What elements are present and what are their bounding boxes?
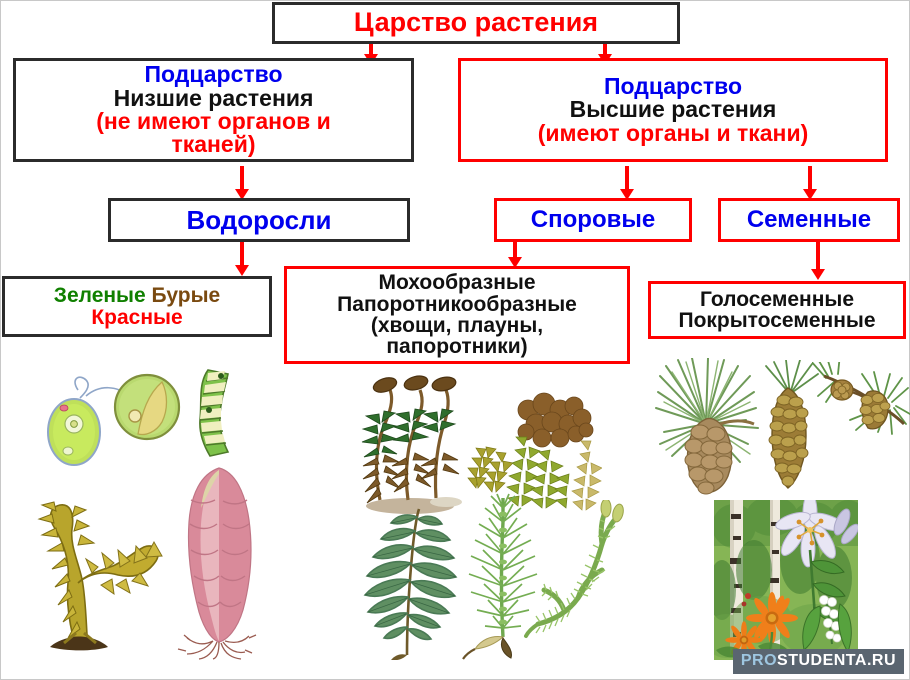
kingdom-plants-label: Царство растения	[354, 9, 598, 37]
algae-box[interactable]: Водоросли	[108, 198, 410, 242]
clubmoss-icon	[520, 500, 625, 640]
arrow-higher-to-spore	[620, 166, 634, 202]
arrow-higher-to-seed	[803, 166, 817, 202]
algae-green-label: Зеленые	[54, 284, 146, 307]
kingdom-plants-box[interactable]: Царство растения	[272, 2, 680, 44]
algae-label: Водоросли	[186, 207, 331, 234]
watermark-pro: PRO	[741, 652, 777, 669]
subkingdom-higher-line1: Подцарство	[604, 75, 742, 98]
spore-groups-line1: Мохообразные	[378, 272, 535, 293]
moss-with-capsules-icon	[350, 372, 470, 517]
arrow-seed-to-groups	[811, 240, 825, 282]
seed-groups-line2: Покрытосеменные	[678, 310, 875, 331]
pine-cone-icon	[760, 360, 820, 495]
brown-alga-fucus-icon	[20, 487, 170, 655]
spore-plants-label: Споровые	[531, 208, 655, 232]
spore-groups-line3: (хвощи, плауны,	[371, 315, 543, 336]
subkingdom-lower-line4: тканей)	[171, 133, 255, 156]
spore-groups-box[interactable]: Мохообразные Папоротникообразные (хвощи,…	[284, 266, 630, 364]
watermark-rest: STUDENTA.RU	[777, 652, 896, 669]
round-green-alga-icon	[112, 372, 182, 442]
arrow-algae-to-groups	[235, 240, 249, 278]
seed-plants-box[interactable]: Семенные	[718, 198, 900, 242]
spirogyra-icon	[188, 368, 234, 458]
diagram-canvas: Царство растения Подцарство Низшие расте…	[0, 0, 910, 680]
red-alga-icon	[157, 460, 277, 660]
subkingdom-lower-line3: (не имеют органов и	[96, 110, 330, 133]
subkingdom-lower-line1: Подцарство	[144, 63, 282, 86]
spore-groups-line2: Папоротникообразные	[337, 294, 577, 315]
spruce-cone-icon	[650, 358, 765, 503]
subkingdom-lower-box[interactable]: Подцарство Низшие растения (не имеют орг…	[13, 58, 414, 162]
subkingdom-higher-line3: (имеют органы и ткани)	[538, 122, 809, 145]
spore-plants-box[interactable]: Споровые	[494, 198, 692, 242]
pine-branch-with-cones-icon	[812, 362, 910, 477]
spore-groups-line4: папоротники)	[386, 336, 527, 357]
algae-groups-box[interactable]: Зеленые Бурые Красные	[2, 276, 272, 337]
watermark: PROSTUDENTA.RU	[733, 649, 904, 674]
algae-groups-line1: Зеленые Бурые	[54, 285, 220, 306]
algae-red-label: Красные	[91, 307, 182, 328]
seed-groups-line1: Голосеменные	[700, 289, 854, 310]
subkingdom-higher-line2: Высшие растения	[570, 98, 777, 121]
seed-plants-label: Семенные	[747, 208, 871, 232]
arrow-lower-to-algae	[235, 166, 249, 202]
algae-brown-label: Бурые	[152, 284, 221, 307]
seed-groups-box[interactable]: Голосеменные Покрытосеменные	[648, 281, 906, 339]
flowering-plants-scene-icon	[714, 500, 858, 660]
subkingdom-lower-line2: Низшие растения	[114, 87, 314, 110]
subkingdom-higher-box[interactable]: Подцарство Высшие растения (имеют органы…	[458, 58, 888, 162]
fern-frond-icon	[345, 505, 470, 660]
